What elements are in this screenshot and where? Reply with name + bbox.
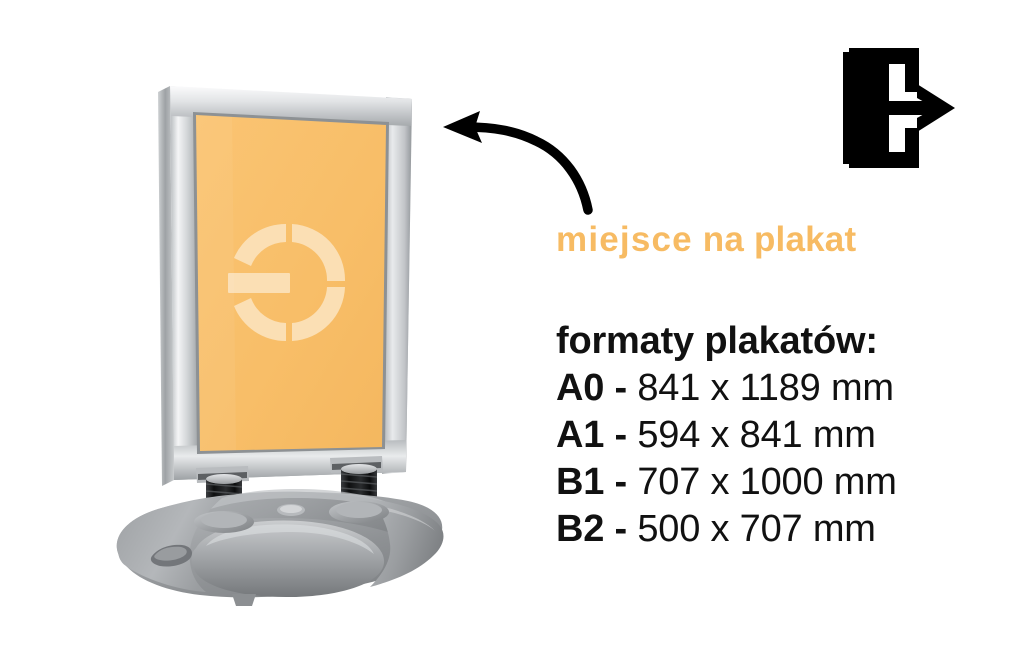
- format-dimensions: 594 x 841 mm: [637, 414, 875, 456]
- water-base: [117, 489, 444, 606]
- door-frame-bottom-post: [905, 128, 919, 168]
- format-code: A0 -: [556, 367, 627, 409]
- base-filler-cap-top: [280, 505, 302, 513]
- headline: miejsce na plakat: [556, 218, 986, 262]
- curved-arrow: [432, 108, 612, 218]
- spring-hub-left-top: [201, 512, 247, 528]
- poster-stand-infographic: miejsce na plakat formaty plakatów: A0 -…: [0, 0, 1024, 666]
- format-row: A0 - 841 x 1189 mm: [556, 365, 986, 412]
- spring-hub-right-top: [336, 502, 382, 518]
- poster-sheen: [196, 115, 236, 451]
- door-panel-edge: [843, 52, 855, 164]
- snap-frame: [158, 86, 412, 486]
- format-code: B2 -: [556, 508, 627, 550]
- base-foot: [232, 594, 256, 606]
- poster-stand-illustration: [0, 0, 460, 666]
- format-code: A1 -: [556, 414, 627, 456]
- door-frame-top-post: [905, 48, 919, 92]
- format-code: B1 -: [556, 461, 627, 503]
- exit-door-icon: [843, 44, 958, 172]
- format-row: B1 - 707 x 1000 mm: [556, 459, 986, 506]
- format-dimensions: 500 x 707 mm: [637, 508, 875, 550]
- text-column: miejsce na plakat formaty plakatów: A0 -…: [556, 218, 986, 553]
- format-dimensions: 707 x 1000 mm: [637, 461, 896, 503]
- format-row: B2 - 500 x 707 mm: [556, 506, 986, 553]
- format-dimensions: 841 x 1189 mm: [637, 367, 894, 409]
- formats-title: formaty plakatów:: [556, 262, 986, 365]
- format-row: A1 - 594 x 841 mm: [556, 412, 986, 459]
- headline-light: na plakat: [703, 220, 857, 259]
- headline-strong: miejsce: [556, 220, 693, 259]
